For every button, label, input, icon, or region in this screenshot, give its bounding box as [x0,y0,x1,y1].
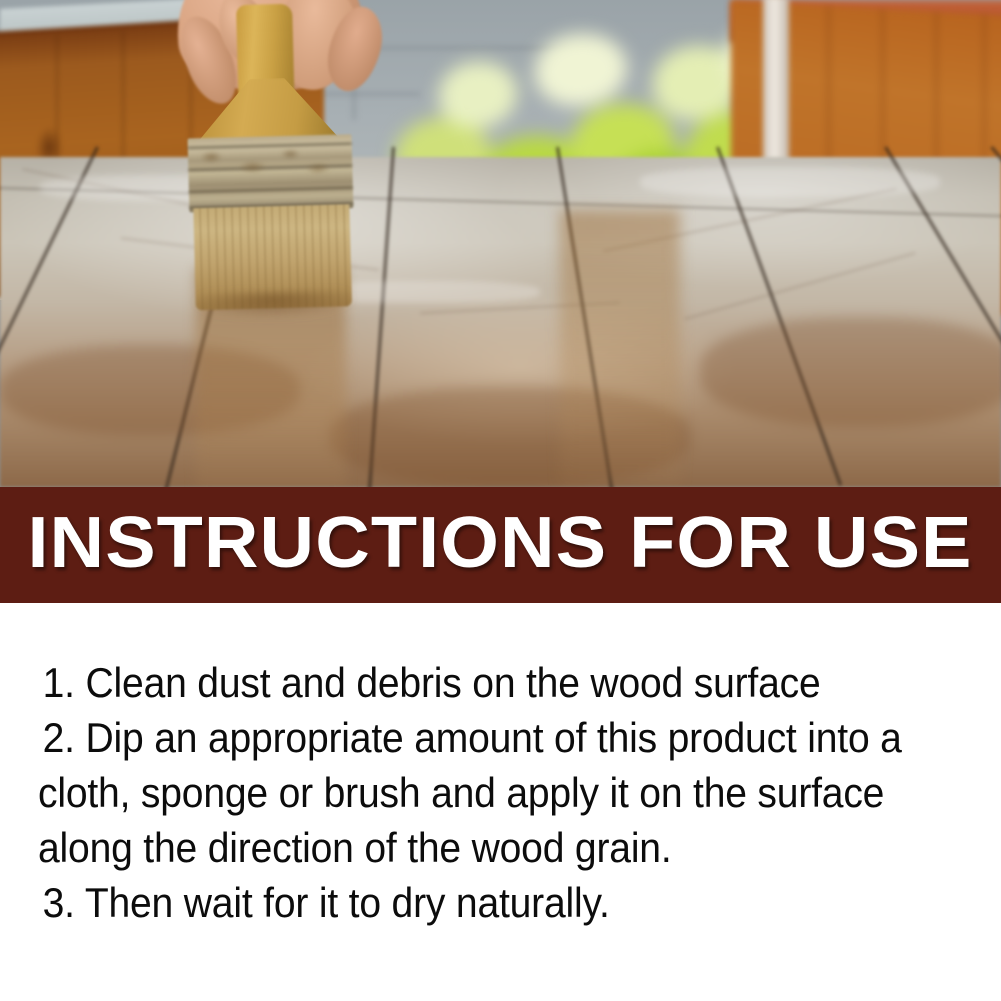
page-title: INSTRUCTIONS FOR USE [28,507,973,583]
product-instructions-card: INSTRUCTIONS FOR USE 1. Clean dust and d… [0,0,1001,1001]
instructions-body: 1. Clean dust and debris on the wood sur… [0,603,1001,1001]
wet-dark-patch [700,317,1001,427]
wet-highlight [640,167,940,197]
instruction-line: 1. Clean dust and debris on the wood sur… [38,655,913,710]
instruction-line: 3. Then wait for it to dry naturally. [38,875,913,930]
wood-deck-staining-photo [0,0,1001,487]
instruction-line: along the direction of the wood grain. [38,820,913,875]
instructions-banner: INSTRUCTIONS FOR USE [0,487,1001,603]
stain-trail [560,210,680,485]
paint-brush-icon [174,3,390,308]
instruction-line: cloth, sponge or brush and apply it on t… [38,765,913,820]
brush-neck [196,77,340,143]
instruction-line: 2. Dip an appropriate amount of this pro… [38,710,913,765]
wood-deck-icon [0,157,1001,487]
brush-tip-shadow [194,290,355,320]
brush-dried-stain [184,141,337,189]
